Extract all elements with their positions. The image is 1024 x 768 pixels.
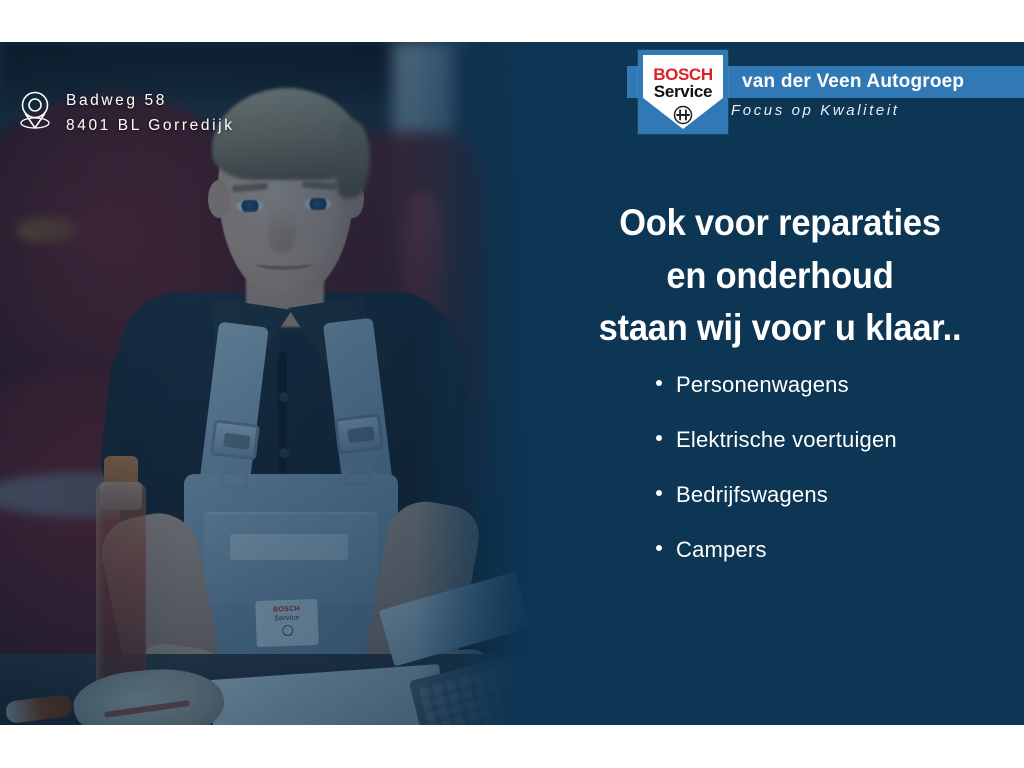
service-label: Personenwagens	[676, 374, 849, 396]
logo-shield-shape: BOSCH Service	[643, 55, 723, 129]
workshop-photo: BOSCH Service	[0, 42, 536, 725]
service-label: Campers	[676, 539, 767, 561]
address-block: Badweg 58 8401 BL Gorredijk	[18, 88, 235, 138]
photo-scene: BOSCH Service	[0, 42, 536, 725]
brand-tagline: Focus op Kwaliteit	[731, 102, 900, 119]
service-label: Bedrijfswagens	[676, 484, 828, 506]
info-panel: BOSCH Service van der Veen Autogroep Foc…	[536, 42, 1024, 725]
bullet-dot-icon	[656, 435, 662, 441]
list-item: Bedrijfswagens	[656, 484, 897, 506]
address-line-1: Badweg 58	[66, 88, 235, 113]
location-pin-icon	[18, 90, 52, 132]
bosch-armature-icon	[673, 105, 693, 125]
list-item: Elektrische voertuigen	[656, 429, 897, 451]
bullet-dot-icon	[656, 490, 662, 496]
headline-line-1: Ook voor reparaties	[553, 197, 1007, 250]
brand-title: van der Veen Autogroep	[742, 67, 964, 97]
headline-line-2: en onderhoud	[553, 250, 1007, 303]
bullet-dot-icon	[656, 380, 662, 386]
promo-banner: BOSCH Service	[0, 42, 1024, 725]
headline: Ook voor reparaties en onderhoud staan w…	[553, 197, 1007, 355]
bosch-car-service-logo: BOSCH Service	[638, 50, 728, 134]
photo-right-fade	[416, 42, 536, 725]
services-list: Personenwagens Elektrische voertuigen Be…	[656, 374, 897, 594]
headline-line-3: staan wij voor u klaar..	[553, 302, 1007, 355]
list-item: Campers	[656, 539, 897, 561]
list-item: Personenwagens	[656, 374, 897, 396]
address-lines: Badweg 58 8401 BL Gorredijk	[66, 88, 235, 138]
logo-service-text: Service	[643, 82, 723, 102]
service-label: Elektrische voertuigen	[676, 429, 897, 451]
bullet-dot-icon	[656, 545, 662, 551]
banner-stage: BOSCH Service	[0, 0, 1024, 768]
address-line-2: 8401 BL Gorredijk	[66, 113, 235, 138]
